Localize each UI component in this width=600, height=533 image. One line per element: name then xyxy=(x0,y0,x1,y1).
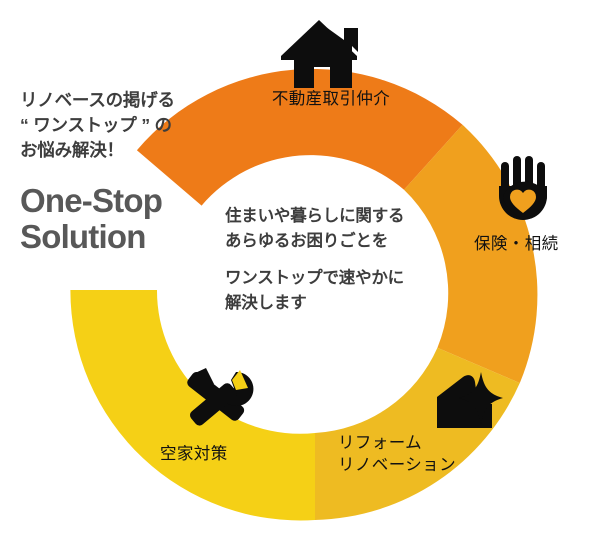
segment-label-real-estate[interactable]: 不動産取引仲介 xyxy=(246,88,416,110)
donut-segment-vacant-house[interactable] xyxy=(70,290,315,520)
segment-label-vacant-house[interactable]: 空家対策 xyxy=(160,443,280,465)
infographic-canvas: リノベースの掲げる “ ワンストップ ” の お悩み解決！ One-Stop S… xyxy=(0,0,600,533)
segment-label-insurance[interactable]: 保険・相続 xyxy=(474,233,594,255)
left-text-block: リノベースの掲げる “ ワンストップ ” の お悩み解決！ One-Stop S… xyxy=(20,88,235,256)
center-paragraph-2: ワンストップで速やかに 解決します xyxy=(225,266,460,316)
page-title: One-Stop Solution xyxy=(20,183,235,257)
hand-heart-icon xyxy=(499,156,547,220)
lead-paragraph: リノベースの掲げる “ ワンストップ ” の お悩み解決！ xyxy=(20,88,235,163)
center-paragraph-1: 住まいや暮らしに関する あらゆるお困りごとを xyxy=(225,204,460,254)
segment-label-reform[interactable]: リフォーム リノベーション xyxy=(338,432,498,477)
center-text-block: 住まいや暮らしに関する あらゆるお困りごとを ワンストップで速やかに 解決します xyxy=(225,204,460,316)
